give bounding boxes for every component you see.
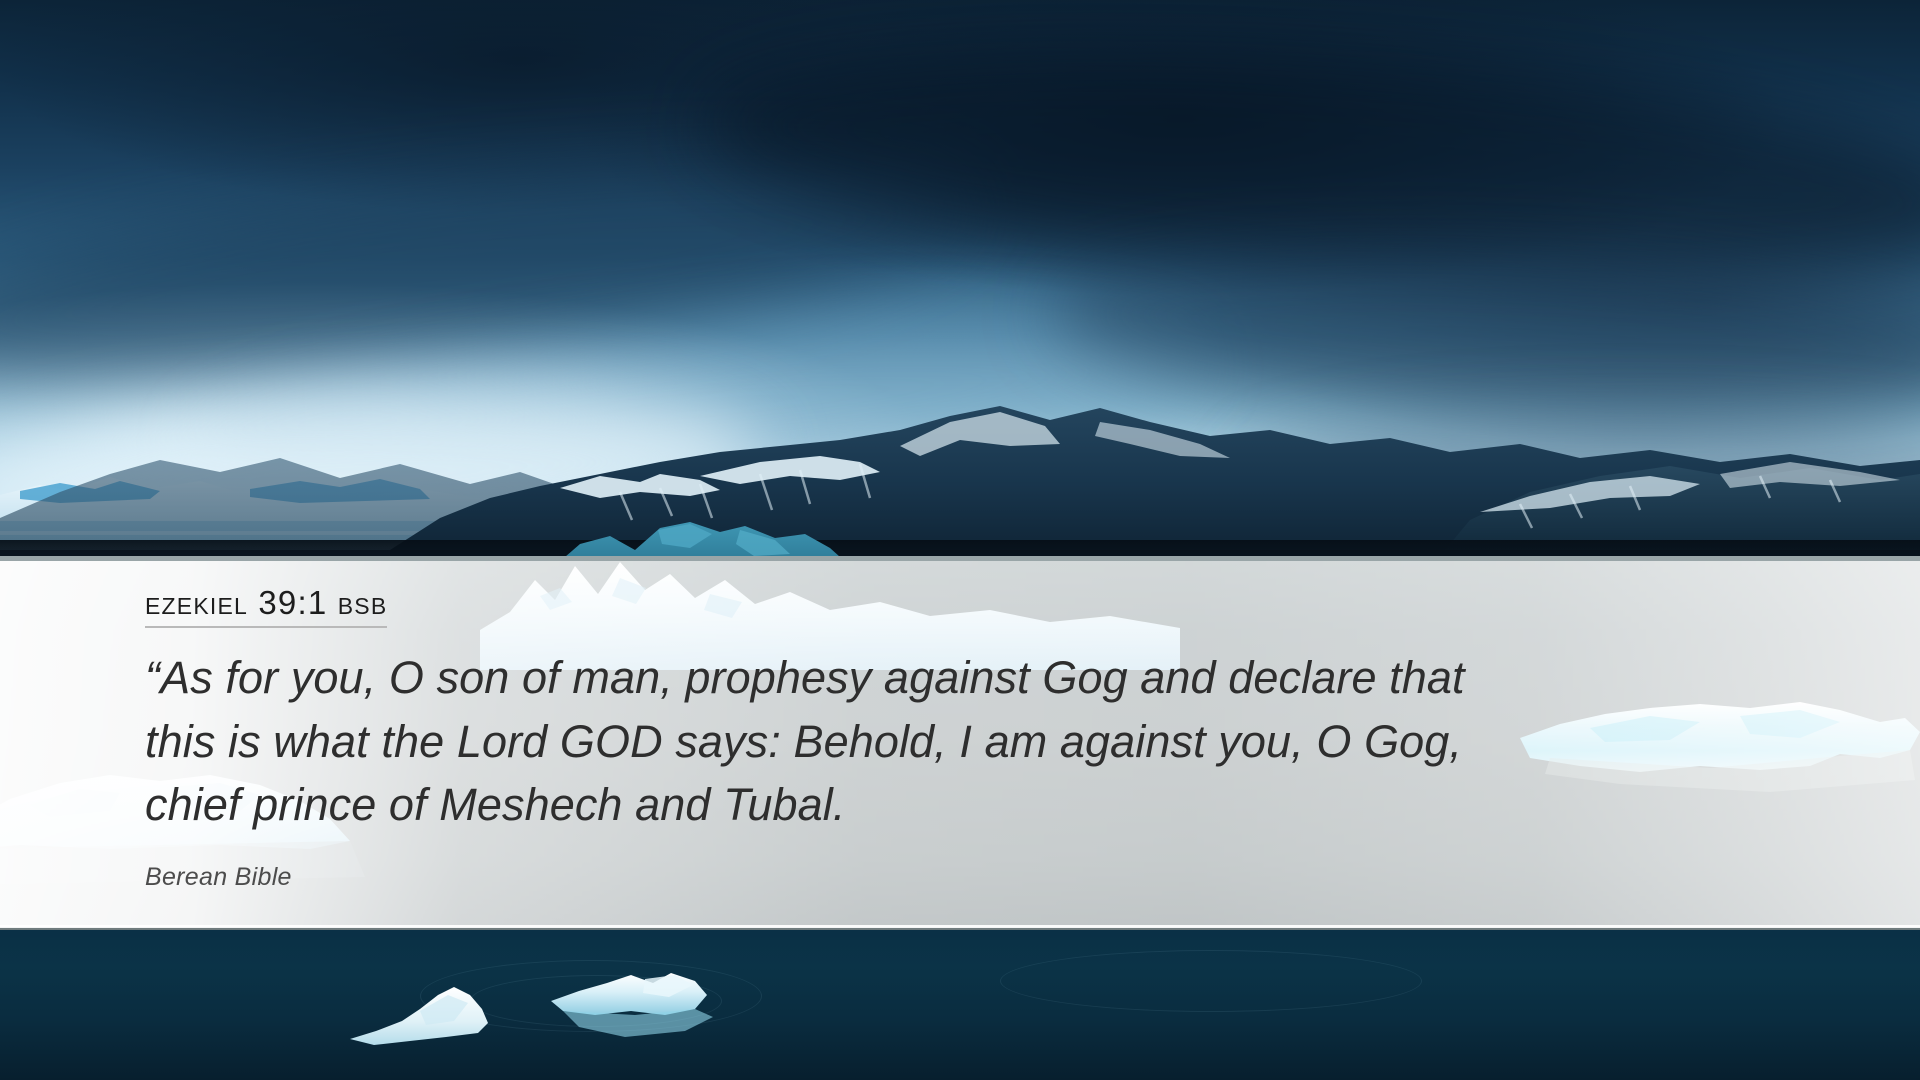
verse-wallpaper: Ezekiel 39:1 BSB “As for you, O son of m… xyxy=(0,0,1920,1080)
verse-card: Ezekiel 39:1 BSB “As for you, O son of m… xyxy=(145,586,1845,892)
verse-quote-line: chief prince of Meshech and Tubal. xyxy=(145,773,1745,837)
foreground-water xyxy=(0,930,1920,1080)
band-bottom-rule xyxy=(0,925,1920,928)
verse-attribution: Berean Bible xyxy=(145,863,1845,892)
verse-quote-line: this is what the Lord GOD says: Behold, … xyxy=(145,710,1745,774)
verse-quote: “As for you, O son of man, prophesy agai… xyxy=(145,646,1745,838)
verse-quote-line: “As for you, O son of man, prophesy agai… xyxy=(145,646,1745,710)
verse-reference: Ezekiel 39:1 BSB xyxy=(145,586,387,628)
